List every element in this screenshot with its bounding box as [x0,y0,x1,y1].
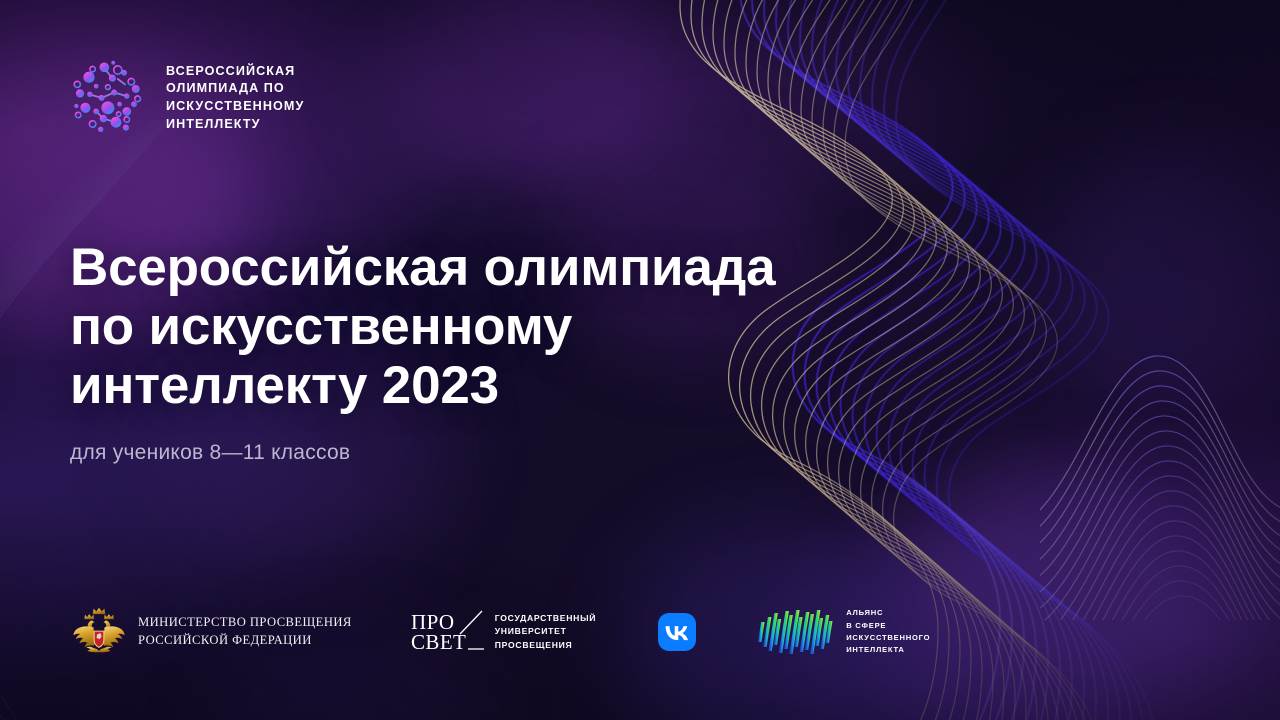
double-headed-eagle-icon [72,606,126,658]
presentation-slide: ВСЕРОССИЙСКАЯ ОЛИМПИАДА ПО ИСКУССТВЕННОМ… [0,0,1280,720]
vk-logo-icon [658,613,696,651]
page-subtitle: для учеников 8—11 классов [70,441,810,465]
partner-name: МИНИСТЕРСТВО ПРОСВЕЩЕНИЯ РОССИЙСКОЙ ФЕДЕ… [138,614,352,650]
partner-logo-strip: МИНИСТЕРСТВО ПРОСВЕЩЕНИЯ РОССИЙСКОЙ ФЕДЕ… [72,606,930,658]
brand-lockup: ВСЕРОССИЙСКАЯ ОЛИМПИАДА ПО ИСКУССТВЕННОМ… [62,52,304,142]
prosvet-wordmark-icon: ПРО СВЕТ [410,609,484,655]
partner-ai-alliance: АЛЬЯНС В СФЕРЕ ИСКУССТВЕННОГО ИНТЕЛЛЕКТА [756,607,930,656]
neural-network-dots-icon [62,52,152,142]
page-title: Всероссийская олимпиада по искусственном… [70,238,810,415]
brand-name: ВСЕРОССИЙСКАЯ ОЛИМПИАДА ПО ИСКУССТВЕННОМ… [166,61,304,134]
partner-prosvet: ПРО СВЕТ ГОСУДАРСТВЕННЫЙ УНИВЕРСИТЕТ ПРО… [410,609,596,655]
partner-ministry-of-education: МИНИСТЕРСТВО ПРОСВЕЩЕНИЯ РОССИЙСКОЙ ФЕДЕ… [72,606,352,658]
partner-name: АЛЬЯНС В СФЕРЕ ИСКУССТВЕННОГО ИНТЕЛЛЕКТА [846,607,930,656]
ai-alliance-waveform-icon [756,610,834,654]
hero-block: Всероссийская олимпиада по искусственном… [70,238,810,465]
partner-vk [658,613,696,651]
prosvet-line2: СВЕТ [411,630,466,654]
partner-name: ГОСУДАРСТВЕННЫЙ УНИВЕРСИТЕТ ПРОСВЕЩЕНИЯ [495,612,596,652]
